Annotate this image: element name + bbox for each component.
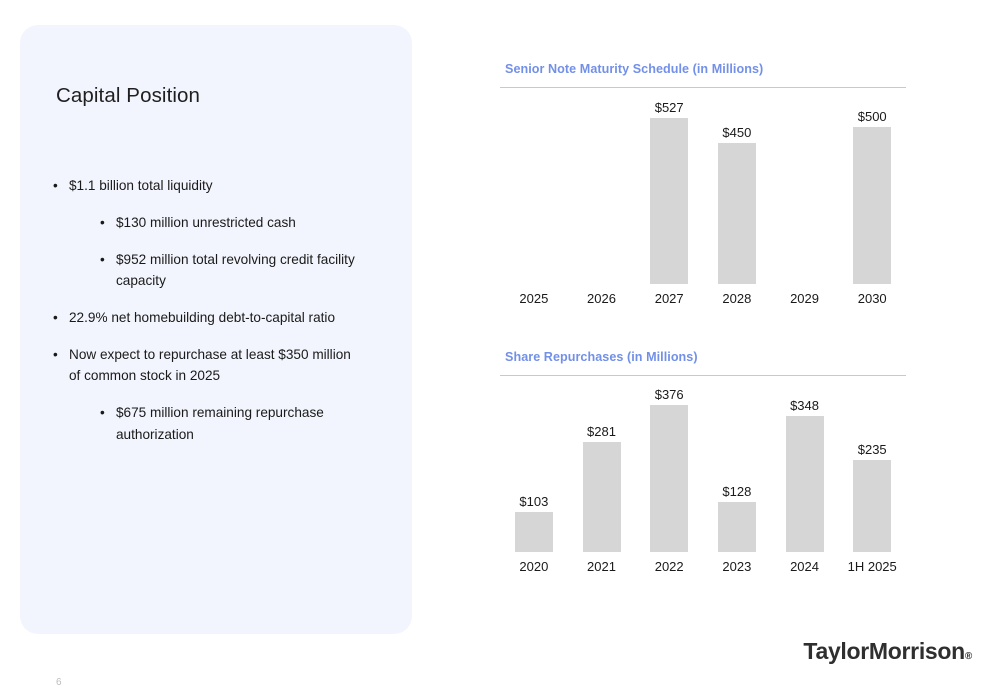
x-axis-label: 2029 xyxy=(771,291,839,306)
bar-value-label: $527 xyxy=(655,100,684,115)
bar-value-label: $128 xyxy=(722,484,751,499)
bar-slot: $103 xyxy=(500,376,568,552)
bullet-item: •Now expect to repurchase at least $350 … xyxy=(53,344,398,386)
bullet-item: •$675 million remaining repurchase autho… xyxy=(100,402,398,444)
bullet-text: $675 million remaining repurchase author… xyxy=(116,402,386,444)
bullet-dot-icon: • xyxy=(53,175,69,196)
bar-slot xyxy=(568,88,636,284)
x-axis-labels: 202520262027202820292030 xyxy=(500,284,906,306)
x-axis-label: 2024 xyxy=(771,559,839,574)
bar-slot: $376 xyxy=(635,376,703,552)
bar-slot xyxy=(771,88,839,284)
x-axis-label: 2021 xyxy=(568,559,636,574)
bar-series: $103$281$376$128$348$235 xyxy=(500,376,906,552)
bullet-item: •$130 million unrestricted cash xyxy=(100,212,398,233)
plot-area: $103$281$376$128$348$235 202020212022202… xyxy=(500,376,906,552)
bullet-dot-icon: • xyxy=(100,212,116,233)
bullet-item: •$952 million total revolving credit fac… xyxy=(100,249,398,291)
x-axis-label: 2027 xyxy=(635,291,703,306)
bar-slot xyxy=(500,88,568,284)
chart-title: Share Repurchases (in Millions) xyxy=(505,350,906,364)
bar xyxy=(853,460,891,552)
bullet-item: •$1.1 billion total liquidity xyxy=(53,175,398,196)
x-axis-label: 2030 xyxy=(838,291,906,306)
bar-slot: $348 xyxy=(771,376,839,552)
logo-wordmark: TaylorMorrison xyxy=(803,638,965,664)
page-number: 6 xyxy=(56,677,62,688)
bar xyxy=(718,143,756,284)
chart-title: Senior Note Maturity Schedule (in Millio… xyxy=(505,62,906,76)
bar-slot: $281 xyxy=(568,376,636,552)
bar-value-label: $103 xyxy=(519,494,548,509)
plot-area: $527$450 $500 202520262027202820292030 xyxy=(500,88,906,284)
bar-value-label: $348 xyxy=(790,398,819,413)
capital-position-panel: Capital Position •$1.1 billion total liq… xyxy=(20,25,412,634)
x-axis-label: 2025 xyxy=(500,291,568,306)
bar xyxy=(583,442,621,552)
bar-value-label: $235 xyxy=(858,442,887,457)
bar xyxy=(650,118,688,284)
bar xyxy=(718,502,756,552)
bar-value-label: $450 xyxy=(722,125,751,140)
bar-value-label: $281 xyxy=(587,424,616,439)
bar-slot: $527 xyxy=(635,88,703,284)
bullet-item: •22.9% net homebuilding debt-to-capital … xyxy=(53,307,398,328)
bar-slot: $450 xyxy=(703,88,771,284)
bar-value-label: $500 xyxy=(858,109,887,124)
x-axis-label: 2023 xyxy=(703,559,771,574)
bullet-dot-icon: • xyxy=(53,307,69,328)
chart-senior-note-maturity-schedule: Senior Note Maturity Schedule (in Millio… xyxy=(500,62,906,284)
bullet-text: $952 million total revolving credit faci… xyxy=(116,249,386,291)
bullet-text: $130 million unrestricted cash xyxy=(116,212,386,233)
x-axis-label: 2026 xyxy=(568,291,636,306)
bullet-text: 22.9% net homebuilding debt-to-capital r… xyxy=(69,307,359,328)
bullet-text: $1.1 billion total liquidity xyxy=(69,175,359,196)
bar xyxy=(515,512,553,552)
bar-slot: $500 xyxy=(838,88,906,284)
bar xyxy=(853,127,891,284)
registered-trademark-icon: ® xyxy=(965,651,972,662)
bullet-dot-icon: • xyxy=(100,249,116,270)
x-axis-label: 2022 xyxy=(635,559,703,574)
bar-slot: $128 xyxy=(703,376,771,552)
x-axis-label: 2028 xyxy=(703,291,771,306)
bar xyxy=(650,405,688,552)
bar-value-label: $376 xyxy=(655,387,684,402)
bullet-text: Now expect to repurchase at least $350 m… xyxy=(69,344,359,386)
x-axis-label: 1H 2025 xyxy=(838,559,906,574)
bullet-dot-icon: • xyxy=(53,344,69,365)
chart-share-repurchases: Share Repurchases (in Millions) $103$281… xyxy=(500,350,906,552)
x-axis-label: 2020 xyxy=(500,559,568,574)
page-title: Capital Position xyxy=(56,84,200,108)
bar xyxy=(786,416,824,552)
company-logo: TaylorMorrison® xyxy=(803,638,972,665)
bullet-list: •$1.1 billion total liquidity•$130 milli… xyxy=(53,175,398,461)
bar-slot: $235 xyxy=(838,376,906,552)
bar-series: $527$450 $500 xyxy=(500,88,906,284)
x-axis-labels: 202020212022202320241H 2025 xyxy=(500,552,906,574)
bullet-dot-icon: • xyxy=(100,402,116,423)
